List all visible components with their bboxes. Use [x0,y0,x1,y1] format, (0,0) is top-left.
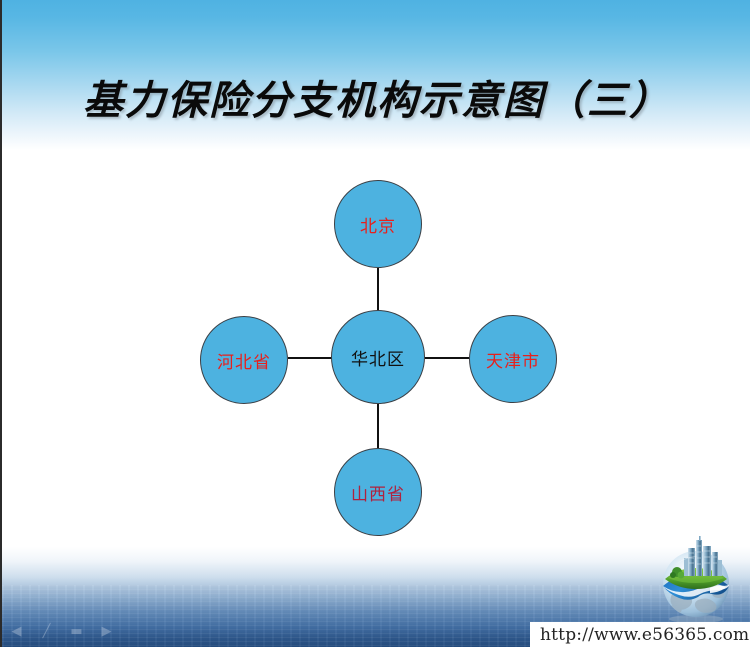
diagram-node-beijing[interactable]: 北京 [334,180,422,268]
presenter-nav-bar[interactable]: ◀ ╱ ▬ ▶ [8,624,115,639]
globe-city-logo [650,532,742,624]
diagram-node-hebei[interactable]: 河北省 [200,316,288,404]
diagram-node-tianjin[interactable]: 天津市 [469,315,557,403]
edge-center-to-tianjin [425,357,469,359]
diagram-node-label: 天津市 [486,347,540,372]
diagram-node-huabei-center[interactable]: 华北区 [331,310,425,404]
org-structure-diagram: 北京 河北省 天津市 山西省 华北区 [2,0,750,647]
edge-center-to-beijing [377,268,379,310]
previous-slide-icon[interactable]: ◀ [8,624,25,639]
diagram-node-label: 华北区 [351,345,405,370]
pen-icon[interactable]: ╱ [38,624,55,639]
edge-center-to-hebei [288,357,332,359]
slide-menu-icon[interactable]: ▬ [68,624,85,639]
edge-center-to-shanxi [377,404,379,448]
watermark-url-text: http://www.e56365.com [540,625,749,645]
presentation-slide: 基力保险分支机构示意图（三） 北京 河北省 天津市 山西省 华北区 [0,0,750,647]
diagram-node-shanxi[interactable]: 山西省 [334,448,422,536]
watermark-url-box: http://www.e56365.com [530,622,750,647]
diagram-node-label: 北京 [360,212,396,237]
diagram-node-label: 河北省 [217,348,271,373]
diagram-node-label: 山西省 [351,480,405,505]
next-slide-icon[interactable]: ▶ [98,624,115,639]
